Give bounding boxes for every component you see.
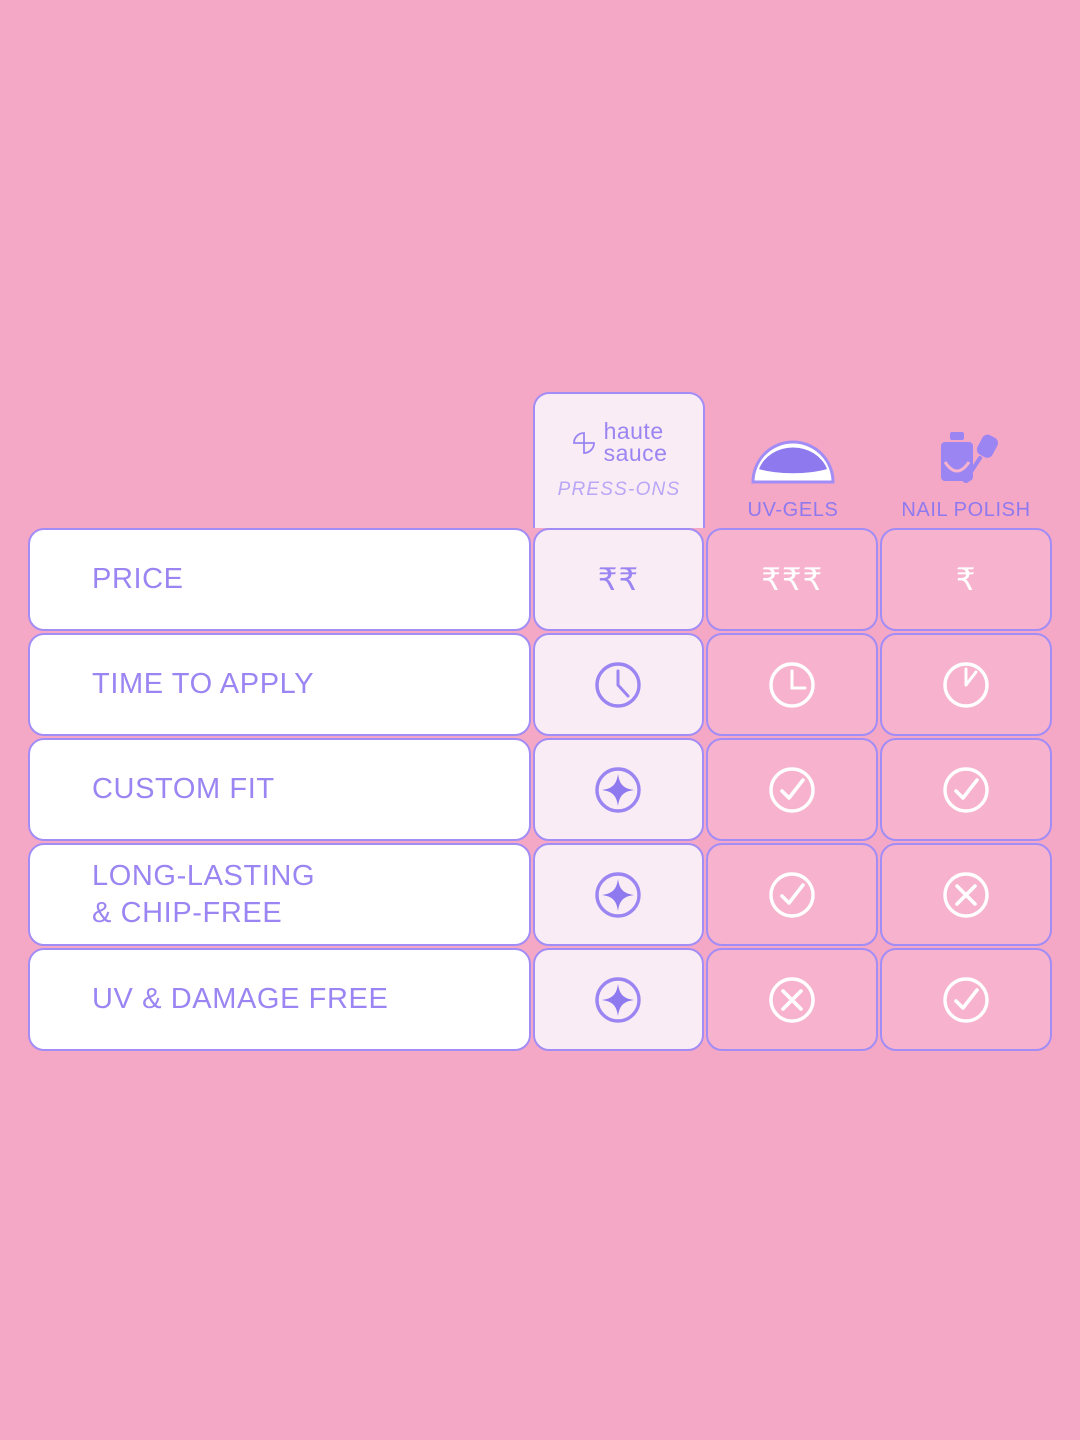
sparkle-star-icon [590,972,646,1028]
cell-price-press-ons: ₹₹ [533,528,705,631]
rupee-single-icon: ₹ [956,564,977,595]
product-comparison-table: haute sauce PRESS-ONS UV-GELS NAIL [28,390,1052,1050]
check-circle-icon [764,867,820,923]
row-label-text: TIME TO APPLY [92,666,314,702]
row-label-text: LONG-LASTING & CHIP-FREE [92,858,315,931]
sparkle-star-icon [590,867,646,923]
uv-gels-column-header: UV-GELS [707,392,879,528]
row-label-text: CUSTOM FIT [92,771,275,807]
cell-price-uv-gels: ₹₹₹ [706,528,878,631]
rupee-triple-icon: ₹₹₹ [761,564,823,595]
cell-uv-damage-press-ons [533,948,705,1051]
table-row: PRICE ₹₹ ₹₹₹ ₹ [28,528,1052,631]
cell-long-lasting-uv-gels [706,843,878,946]
row-label-uv-damage-free: UV & DAMAGE FREE [28,948,531,1051]
logo-line-2: sauce [604,443,668,465]
nail-polish-bottle-brush-icon [923,429,1009,485]
cross-circle-icon [764,972,820,1028]
row-label-custom-fit: CUSTOM FIT [28,738,531,841]
nail-polish-column-label: NAIL POLISH [901,499,1030,522]
comparison-table-body: PRICE ₹₹ ₹₹₹ ₹ TIME TO APPLY [28,528,1052,1051]
cell-uv-damage-nail-polish [880,948,1052,1051]
haute-sauce-logo: haute sauce [571,421,668,464]
check-circle-icon [938,972,994,1028]
cell-custom-fit-nail-polish [880,738,1052,841]
row-label-long-lasting-chip-free: LONG-LASTING & CHIP-FREE [28,843,531,946]
clock-icon [590,657,646,713]
table-row: CUSTOM FIT [28,738,1052,841]
row-label-price: PRICE [28,528,531,631]
table-row: LONG-LASTING & CHIP-FREE [28,843,1052,946]
brand-column-subtitle: PRESS-ONS [558,479,681,501]
cross-circle-icon [938,867,994,923]
row-label-time-to-apply: TIME TO APPLY [28,633,531,736]
uv-lamp-dome-icon [750,435,836,485]
cell-long-lasting-press-ons [533,843,705,946]
cell-long-lasting-nail-polish [880,843,1052,946]
check-circle-icon [938,762,994,818]
table-row: UV & DAMAGE FREE [28,948,1052,1051]
cell-price-nail-polish: ₹ [880,528,1052,631]
table-row: TIME TO APPLY [28,633,1052,736]
haute-sauce-wordmark: haute sauce [604,421,668,464]
haute-sauce-petal-mark-icon [571,430,597,456]
cell-time-uv-gels [706,633,878,736]
cell-custom-fit-uv-gels [706,738,878,841]
nail-polish-column-header: NAIL POLISH [880,392,1052,528]
rupee-double-icon: ₹₹ [598,564,639,595]
row-label-text: UV & DAMAGE FREE [92,981,388,1017]
row-label-text: PRICE [92,561,184,597]
comparison-table-header: haute sauce PRESS-ONS UV-GELS NAIL [28,390,1052,528]
clock-icon [938,657,994,713]
brand-column-header: haute sauce PRESS-ONS [533,392,705,528]
check-circle-icon [764,762,820,818]
cell-time-press-ons [533,633,705,736]
clock-icon [764,657,820,713]
cell-uv-damage-uv-gels [706,948,878,1051]
sparkle-star-icon [590,762,646,818]
cell-custom-fit-press-ons [533,738,705,841]
uv-gels-column-label: UV-GELS [748,499,839,522]
cell-time-nail-polish [880,633,1052,736]
